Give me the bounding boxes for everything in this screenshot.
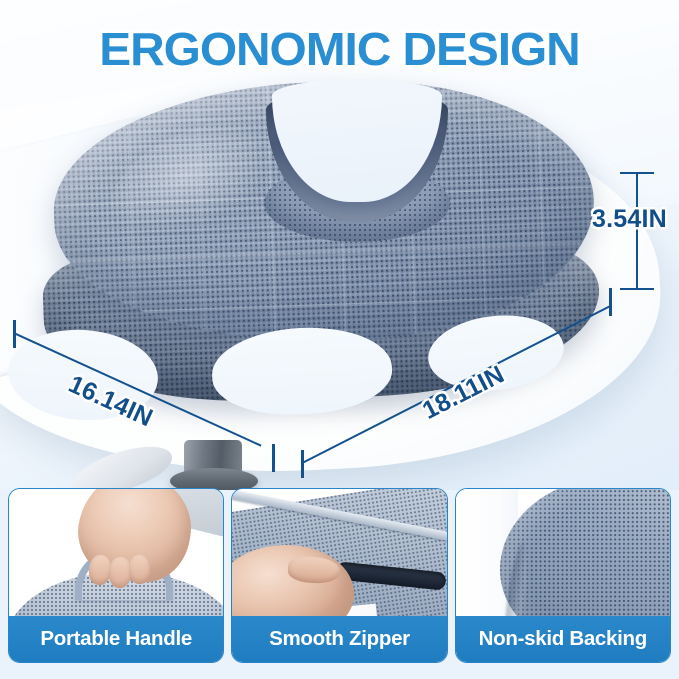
height-dimension-cap-top bbox=[620, 172, 654, 174]
feature-panel-smooth-zipper[interactable]: Smooth Zipper bbox=[231, 488, 447, 663]
infographic-canvas: 3.54IN 16.14IN 18.11IN ERGONOMIC DESIGN … bbox=[0, 0, 679, 679]
chair-base-hub bbox=[170, 468, 258, 490]
width-dimension-cap-end bbox=[272, 444, 275, 472]
hero-product-scene: 3.54IN 16.14IN 18.11IN ERGONOMIC DESIGN bbox=[0, 0, 679, 490]
seat-cushion bbox=[36, 78, 606, 388]
feature-panel-portable-handle[interactable]: Portable Handle bbox=[8, 488, 224, 663]
page-title: ERGONOMIC DESIGN bbox=[0, 22, 679, 76]
feature-panel-non-skid-backing[interactable]: Non-skid Backing bbox=[455, 488, 671, 663]
feature-label-portable-handle: Portable Handle bbox=[9, 616, 223, 662]
feature-panel-row: Portable Handle Smooth Zipper Non-skid B… bbox=[0, 488, 679, 668]
width-dimension-cap-start bbox=[13, 320, 16, 348]
depth-dimension-cap-start bbox=[301, 450, 304, 478]
height-dimension-cap-bottom bbox=[620, 288, 654, 290]
finger bbox=[128, 554, 150, 584]
feature-label-non-skid-backing: Non-skid Backing bbox=[456, 616, 670, 662]
depth-dimension-cap-end bbox=[609, 288, 612, 316]
height-dimension-label: 3.54IN bbox=[592, 205, 667, 234]
feature-label-smooth-zipper: Smooth Zipper bbox=[232, 616, 446, 662]
